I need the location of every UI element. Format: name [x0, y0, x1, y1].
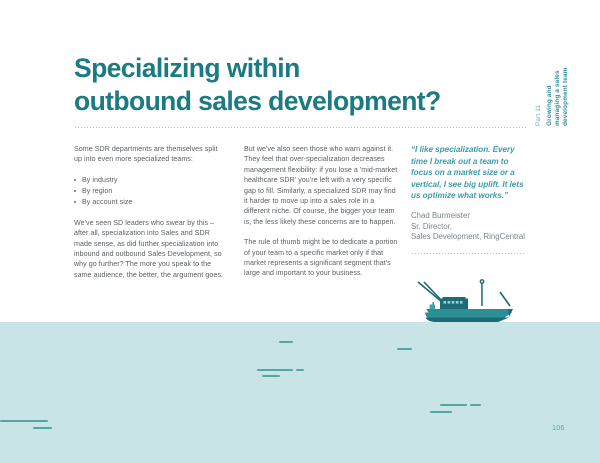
fishing-trawler-boat-icon — [412, 276, 530, 324]
left-intro-paragraph: Some SDR departments are themselves spli… — [74, 144, 226, 165]
side-label-line-1: Growing and — [546, 85, 553, 126]
water-ripple — [470, 404, 481, 406]
section-side-label: Part 11 Growing and managing a sales dev… — [529, 30, 589, 125]
quote-divider — [411, 253, 525, 254]
page-canvas: Specializing within outbound sales devel… — [0, 0, 600, 463]
water-ripple — [33, 427, 52, 429]
left-paragraph-2: We've seen SD leaders who swear by this … — [74, 218, 226, 280]
water-ripple — [257, 369, 293, 371]
page-title: Specializing within outbound sales devel… — [74, 52, 494, 118]
page-title-line-2: outbound sales development? — [74, 85, 494, 118]
water-ripple — [430, 411, 452, 413]
water-background — [0, 322, 600, 463]
side-label-part: Part 11 — [535, 105, 542, 126]
quote-attribution: Chad Burmeister Sr. Director, Sales Deve… — [411, 211, 531, 243]
list-item: By account size — [74, 197, 226, 208]
list-item: By industry — [74, 175, 226, 186]
water-ripple — [0, 420, 48, 422]
middle-paragraph-1: But we've also seen those who warn again… — [244, 144, 399, 227]
water-ripple — [440, 404, 467, 406]
water-ripple — [397, 348, 412, 350]
title-divider — [74, 127, 526, 128]
pull-quote-text: “I like specialization. Every time I bre… — [411, 144, 531, 202]
middle-paragraph-2: The rule of thumb might be to dedicate a… — [244, 237, 399, 279]
side-label-line-3: development team — [562, 67, 569, 126]
page-number: 106 — [552, 423, 565, 432]
body-column-middle: But we've also seen those who warn again… — [244, 144, 399, 279]
quote-author: Chad Burmeister — [411, 211, 531, 222]
side-label-line-2: managing a sales — [554, 70, 561, 126]
list-item: By region — [74, 186, 226, 197]
specialization-bullet-list: By industry By region By account size — [74, 175, 226, 208]
quote-company: Sales Development, RingCentral — [411, 232, 531, 243]
water-ripple — [279, 341, 293, 343]
water-ripple — [262, 375, 280, 377]
body-column-left: Some SDR departments are themselves spli… — [74, 144, 226, 280]
quote-role: Sr. Director, — [411, 222, 531, 233]
page-title-line-1: Specializing within — [74, 52, 494, 85]
pull-quote-block: “I like specialization. Every time I bre… — [411, 144, 531, 243]
water-ripple — [296, 369, 304, 371]
